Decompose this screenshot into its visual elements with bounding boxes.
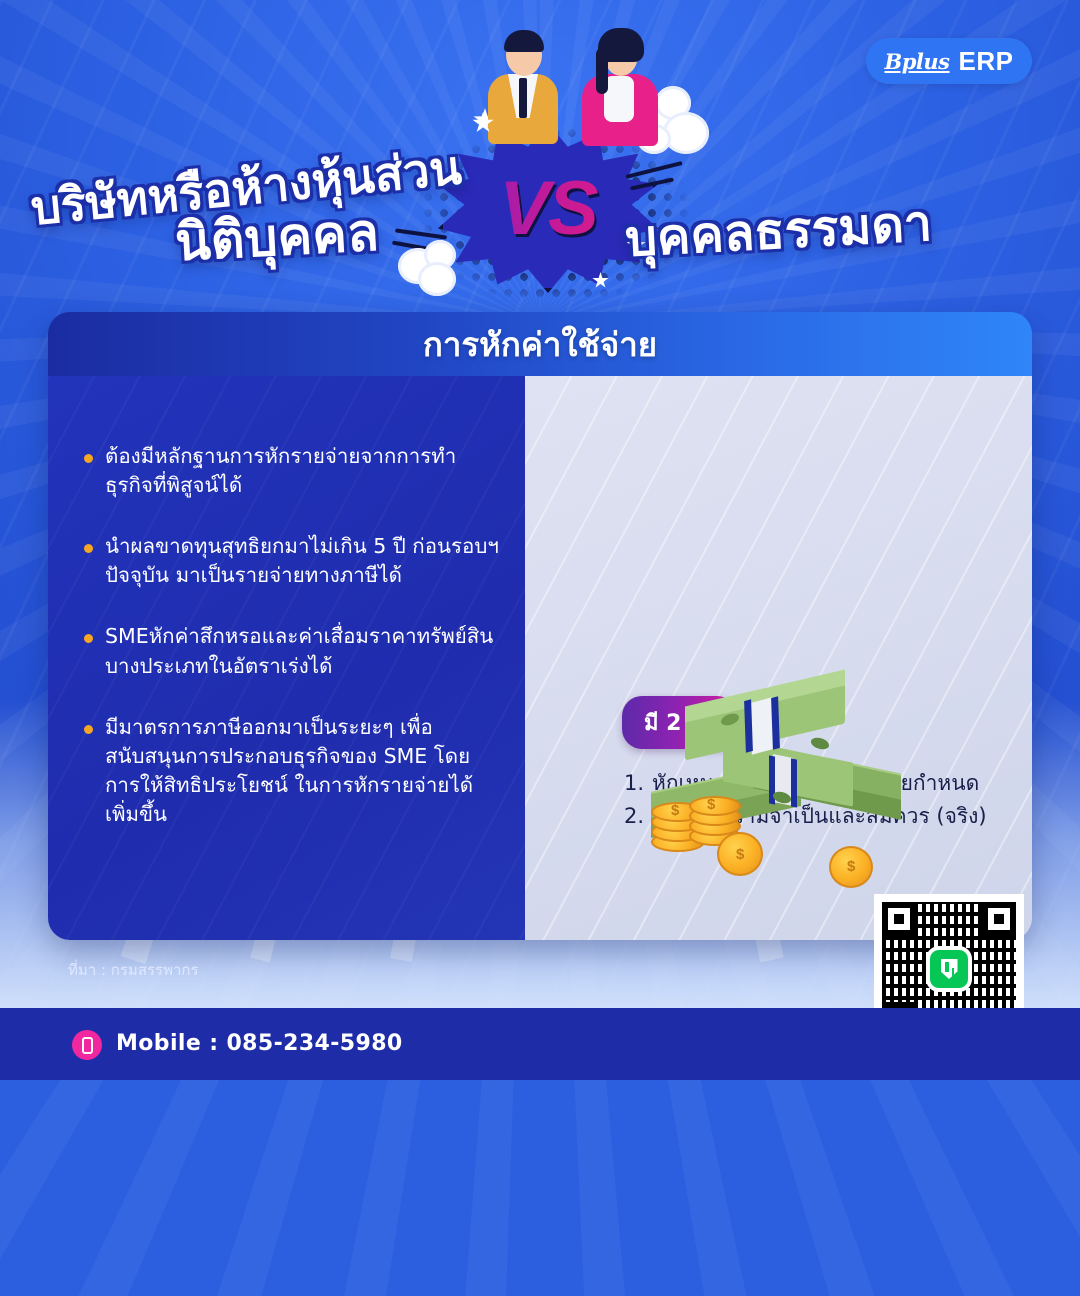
qr-finder-icon <box>982 902 1016 936</box>
character-businesswoman <box>560 28 690 160</box>
money-illustration: $ $ $ $ <box>633 680 923 900</box>
bullet-text: ต้องมีหลักฐานการหักรายจ่ายจากการทำธุรกิจ… <box>105 442 504 500</box>
mobile-phone-icon <box>72 1030 102 1060</box>
bullet-dot-icon <box>84 634 93 643</box>
bullet-text: นำผลขาดทุนสุทธิยกมาไม่เกิน 5 ปี ก่อนรอบฯ… <box>105 532 504 590</box>
mobile-number: Mobile : 085-234-5980 <box>116 1031 403 1056</box>
list-item: ต้องมีหลักฐานการหักรายจ่ายจากการทำธุรกิจ… <box>84 442 504 500</box>
bullet-text: SMEหักค่าสึกหรอและค่าเสื่อมราคาทรัพย์สิน… <box>105 622 504 680</box>
footer-bar: Mobile : 085-234-5980 <box>0 1008 1080 1080</box>
bullet-dot-icon <box>84 725 93 734</box>
bullet-dot-icon <box>84 454 93 463</box>
title-left-line2: นิติบุคคล <box>173 190 381 284</box>
title-right: บุคคลธรรมดา <box>623 184 934 279</box>
list-item: SMEหักค่าสึกหรอและค่าเสื่อมราคาทรัพย์สิน… <box>84 622 504 680</box>
list-item: มีมาตรการภาษีออกมาเป็นระยะๆ เพื่อสนับสนุ… <box>84 713 504 829</box>
panel-juristic-person: ต้องมีหลักฐานการหักรายจ่ายจากการทำธุรกิจ… <box>48 376 525 940</box>
bullet-text: มีมาตรการภาษีออกมาเป็นระยะๆ เพื่อสนับสนุ… <box>105 713 504 829</box>
bullet-dot-icon <box>84 544 93 553</box>
left-bullet-list: ต้องมีหลักฐานการหักรายจ่ายจากการทำธุรกิจ… <box>84 442 504 861</box>
card-header: การหักค่าใช้จ่าย <box>48 312 1032 376</box>
list-item: นำผลขาดทุนสุทธิยกมาไม่เกิน 5 ปี ก่อนรอบฯ… <box>84 532 504 590</box>
qr-finder-icon <box>882 902 916 936</box>
line-app-icon <box>930 950 968 988</box>
hero-section: VS บริษัทหรือห้างหุ้นส่วน นิติบุคคล <box>0 0 1080 310</box>
card-header-title: การหักค่าใช้จ่าย <box>423 318 657 371</box>
source-note: ที่มา : กรมสรรพากร <box>68 958 199 982</box>
